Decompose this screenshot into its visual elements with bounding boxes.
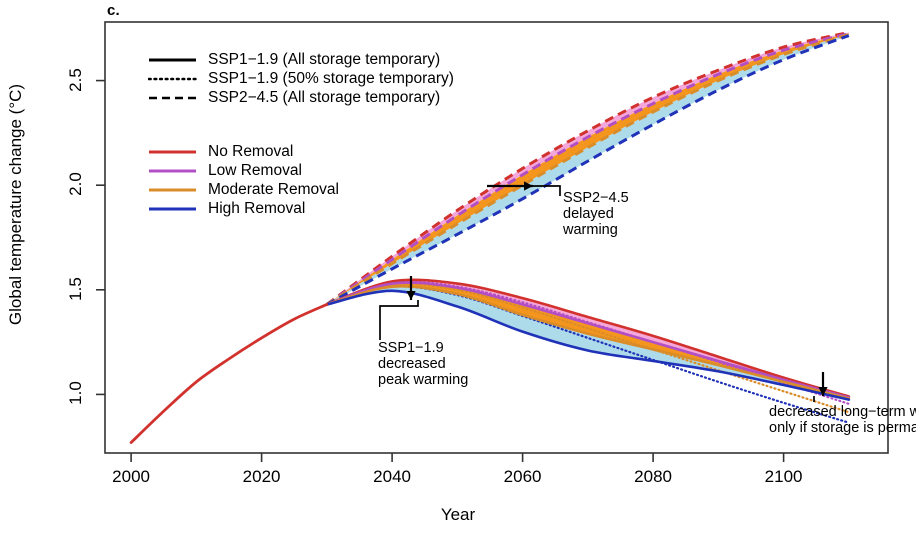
plot-area [0, 0, 916, 535]
series-line [131, 304, 327, 442]
legend-style-swatch-solid [148, 53, 200, 67]
legend-color-label: Low Removal [208, 163, 302, 179]
y-tick-label: 1.0 [66, 371, 86, 415]
legend-color-label: High Removal [208, 201, 305, 217]
x-tick-label: 2020 [230, 467, 294, 487]
legend-style-swatch-dotted [148, 72, 200, 86]
legend-color-swatch [148, 203, 200, 215]
legend-style-label: SSP2−4.5 (All storage temporary) [208, 90, 440, 106]
legend-style-label: SSP1−1.9 (50% storage temporary) [208, 71, 454, 87]
decreased-long-term-warming: decreased long−term warming only if stor… [769, 404, 916, 436]
legend-color-label: No Removal [208, 144, 293, 160]
y-tick-label: 2.0 [66, 162, 86, 206]
legend-style-label: SSP1−1.9 (All storage temporary) [208, 52, 440, 68]
y-tick-label: 2.5 [66, 58, 86, 102]
legend-color-swatch [148, 184, 200, 196]
x-tick-label: 2100 [752, 467, 816, 487]
x-tick-label: 2060 [491, 467, 555, 487]
x-tick-label: 2040 [360, 467, 424, 487]
legend-style-swatch-dashed [148, 91, 200, 105]
figure-panel-c: c. Global temperature change (°C) Year 2… [0, 0, 916, 535]
x-tick-label: 2080 [621, 467, 685, 487]
ssp245-delayed-warming: SSP2−4.5 delayed warming [563, 190, 629, 239]
y-tick-label: 1.5 [66, 267, 86, 311]
ssp119-decreased-peak-warming: SSP1−1.9 decreased peak warming [378, 340, 468, 389]
legend-color-swatch [148, 165, 200, 177]
legend-color-swatch [148, 146, 200, 158]
legend-color-label: Moderate Removal [208, 182, 339, 198]
x-tick-label: 2000 [99, 467, 163, 487]
